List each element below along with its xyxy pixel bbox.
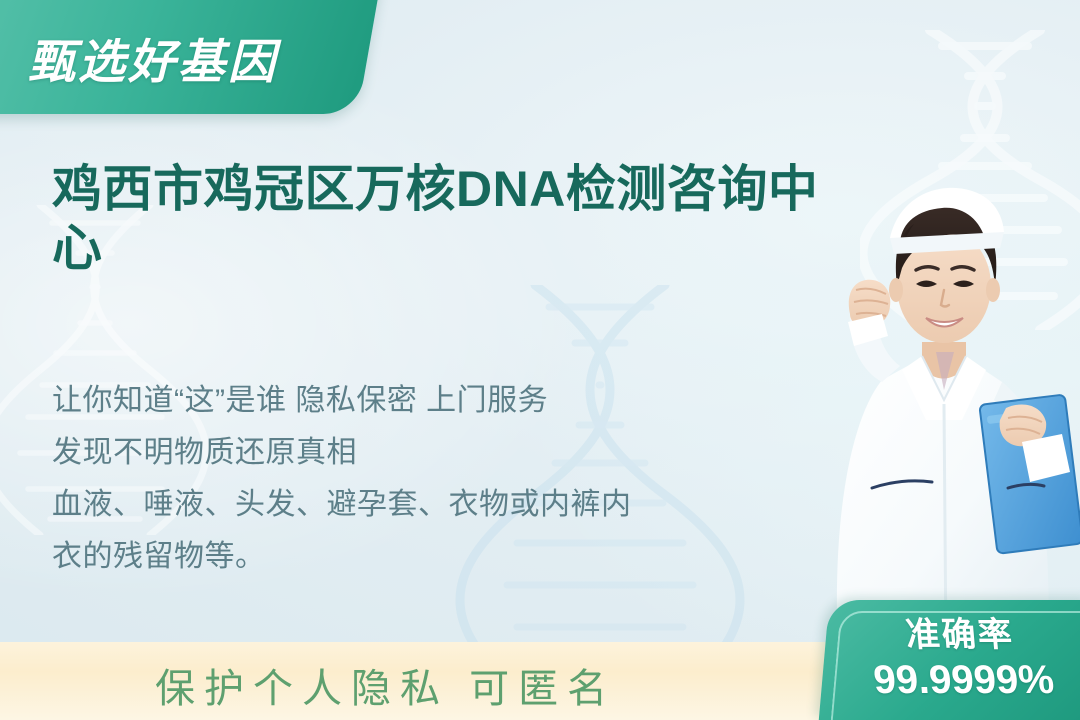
promo-poster: 甄选好基因 鸡西市鸡冠区万核DNA检测咨询中心 让你知道“这”是谁 隐私保密 上…: [0, 0, 1080, 720]
body-copy-line-3: 血液、唾液、头发、避孕套、衣物或内裤内: [52, 479, 752, 531]
accuracy-badge-label: 准确率: [904, 617, 1015, 654]
body-copy-line-4: 衣的残留物等。: [52, 531, 752, 583]
accuracy-badge-content: 准确率 99.9999%: [813, 600, 1080, 720]
body-copy-line-1: 让你知道“这”是谁 隐私保密 上门服务: [52, 375, 752, 427]
body-copy: 让你知道“这”是谁 隐私保密 上门服务 发现不明物质还原真相 血液、唾液、头发、…: [52, 375, 752, 583]
bottom-bar-text: 保护个人隐私 可匿名: [155, 656, 616, 714]
accuracy-badge-value: 99.9999%: [872, 657, 1056, 703]
page-title: 鸡西市鸡冠区万核DNA检测咨询中心: [52, 160, 842, 278]
brand-banner-text: 甄选好基因: [28, 22, 348, 92]
body-copy-line-2: 发现不明物质还原真相: [52, 427, 752, 479]
